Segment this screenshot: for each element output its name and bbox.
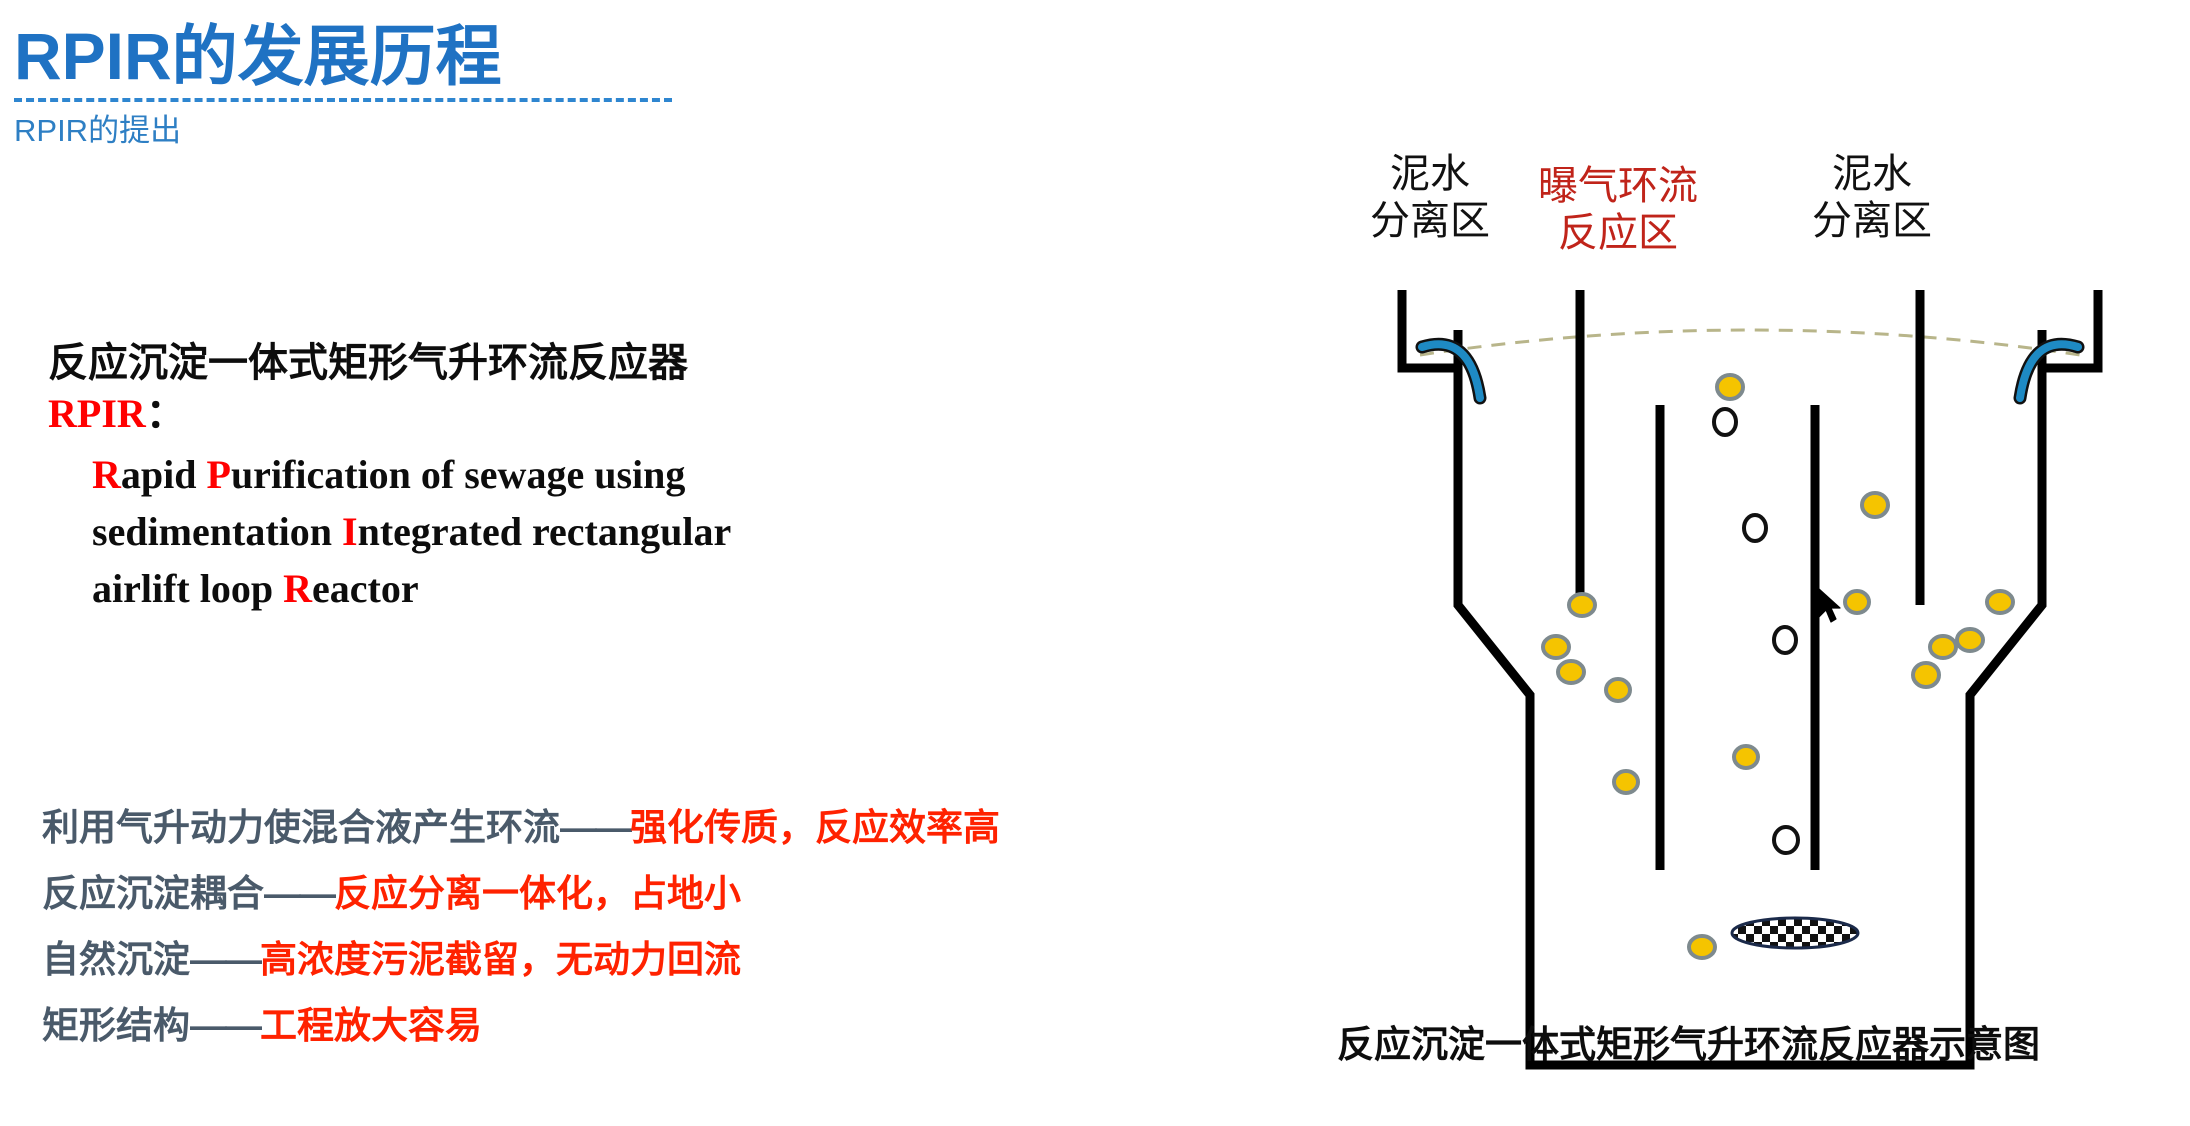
expansion-cap-p: P — [207, 452, 231, 497]
expansion-line-2: sedimentation Integrated rectangular — [92, 503, 928, 560]
expansion-text-1b: urification of sewage using — [231, 452, 685, 497]
left-content-block: 反应沉淀一体式矩形气升环流反应器 RPIR： Rapid Purificatio… — [48, 338, 928, 617]
bottom-aerator-diffuser-icon — [1732, 918, 1858, 948]
expansion-cap-r2: R — [283, 566, 312, 611]
title-divider — [14, 98, 672, 102]
expansion-line-1: Rapid Purification of sewage using — [92, 446, 928, 503]
feature-item: 利用气升动力使混合液产生环流——强化传质，反应效率高 — [42, 795, 1122, 861]
reactor-name-heading: 反应沉淀一体式矩形气升环流反应器 — [48, 338, 928, 388]
feature-dash: —— — [264, 873, 334, 914]
page-subtitle: RPIR的提出 — [14, 112, 694, 150]
expansion-text-1a: apid — [121, 452, 207, 497]
acronym-letter-r2: R — [117, 391, 146, 436]
slide-title-block: RPIR的发展历程 RPIR的提出 — [14, 18, 694, 150]
feature-accent: 强化传质，反应效率高 — [630, 807, 1000, 848]
feature-accent: 高浓度污泥截留，无动力回流 — [260, 939, 741, 980]
feature-dash: —— — [560, 807, 630, 848]
acronym-letter-p: P — [77, 391, 101, 436]
gas-bubble-group — [1714, 409, 1798, 853]
reactor-diagram-svg — [1330, 150, 2170, 1110]
reactor-schematic: 泥水 分离区 曝气环流 反应区 泥水 分离区 — [1330, 150, 2170, 1110]
expansion-cap-i: I — [342, 509, 358, 554]
dashed-water-surface-icon — [1420, 330, 2080, 355]
acronym-letter-r1: R — [48, 391, 77, 436]
expansion-text-2a: sedimentation — [92, 509, 342, 554]
acronym-expansion-block: Rapid Purification of sewage using sedim… — [92, 446, 928, 617]
diagram-caption: 反应沉淀一体式矩形气升环流反应器示意图 — [1337, 1022, 2040, 1068]
feature-dash: —— — [190, 1005, 260, 1046]
expansion-line-3: airlift loop Reactor — [92, 560, 928, 617]
expansion-text-2b: ntegrated rectangular — [358, 509, 732, 554]
feature-lead: 利用气升动力使混合液产生环流 — [42, 807, 560, 848]
expansion-cap-r1: R — [92, 452, 121, 497]
feature-item: 矩形结构——工程放大容易 — [42, 993, 1122, 1059]
feature-list: 利用气升动力使混合液产生环流——强化传质，反应效率高 反应沉淀耦合——反应分离一… — [42, 795, 1122, 1059]
feature-lead: 反应沉淀耦合 — [42, 873, 264, 914]
page-title: RPIR的发展历程 — [14, 18, 694, 94]
expansion-text-3a: airlift loop — [92, 566, 283, 611]
sludge-floc-group — [1543, 375, 2013, 958]
left-outer-wall-and-weir-base — [1402, 290, 1462, 368]
feature-accent: 反应分离一体化，占地小 — [334, 873, 741, 914]
feature-dash: —— — [190, 939, 260, 980]
acronym-line: RPIR： — [48, 388, 928, 440]
feature-item: 自然沉淀——高浓度污泥截留，无动力回流 — [42, 927, 1122, 993]
feature-item: 反应沉淀耦合——反应分离一体化，占地小 — [42, 861, 1122, 927]
feature-lead: 自然沉淀 — [42, 939, 190, 980]
acronym-letter-i: I — [101, 391, 117, 436]
expansion-text-3b: eactor — [312, 566, 419, 611]
feature-accent: 工程放大容易 — [260, 1005, 482, 1046]
feature-lead: 矩形结构 — [42, 1005, 190, 1046]
acronym-colon: ： — [146, 391, 186, 436]
right-outer-wall-and-weir-base — [2040, 290, 2098, 368]
